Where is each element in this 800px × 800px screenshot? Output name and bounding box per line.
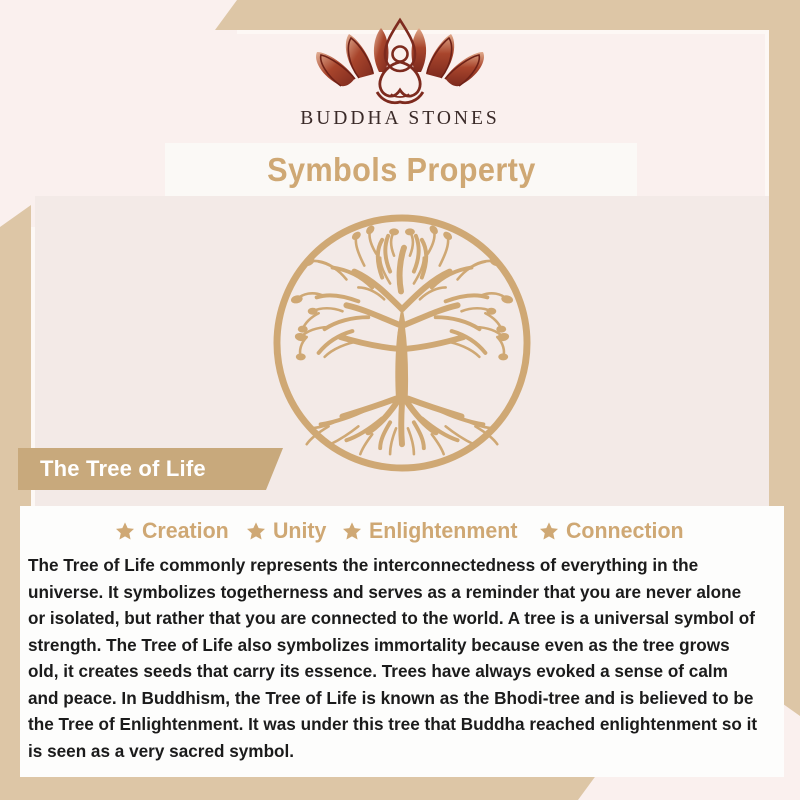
page-title: Symbols Property xyxy=(267,151,536,189)
star-icon xyxy=(539,521,559,541)
description-panel: Creation Unity Enlightenment xyxy=(20,506,784,777)
keyword-item: Unity xyxy=(246,518,329,544)
keyword-list: Creation Unity Enlightenment xyxy=(20,506,784,544)
tree-of-life-medallion-icon xyxy=(273,214,531,472)
title-banner: Symbols Property xyxy=(165,143,637,196)
keyword-label: Creation xyxy=(142,518,229,544)
poster-root: BUDDHA STONES Symbols Property xyxy=(0,0,800,800)
brand-wordmark: BUDDHA STONES xyxy=(300,108,500,130)
keyword-item: Connection xyxy=(539,518,690,544)
star-icon xyxy=(342,521,362,541)
keyword-label: Enlightenment xyxy=(369,518,517,544)
symbol-name-label: The Tree of Life xyxy=(40,456,206,482)
star-icon xyxy=(115,521,135,541)
symbol-name-tab: The Tree of Life xyxy=(18,448,283,490)
symbol-description: The Tree of Life commonly represents the… xyxy=(28,552,757,764)
keyword-label: Connection xyxy=(566,518,684,544)
keyword-item: Enlightenment xyxy=(342,518,525,544)
brand-header: BUDDHA STONES xyxy=(0,0,800,143)
star-icon xyxy=(246,521,266,541)
keyword-item: Creation xyxy=(115,518,233,544)
keyword-label: Unity xyxy=(273,518,326,544)
lotus-meditation-figure-icon xyxy=(305,14,495,106)
